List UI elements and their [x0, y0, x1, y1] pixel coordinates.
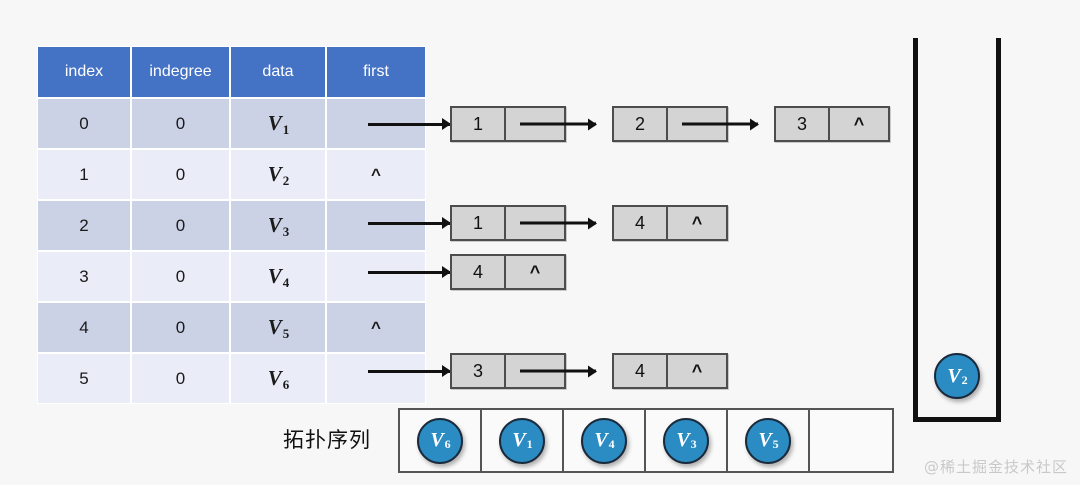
list-node: 4 ^: [612, 205, 728, 241]
vertex-letter: V: [676, 429, 689, 452]
cell-indegree: 0: [131, 353, 230, 404]
cell-indegree: 0: [131, 302, 230, 353]
node-pointer: [506, 355, 564, 387]
cell-index: 3: [37, 251, 131, 302]
vertex-letter: V: [430, 429, 443, 452]
vertex-letter: V: [268, 264, 282, 288]
vertex-letter: V: [268, 315, 282, 339]
vertex-subscript: 6: [445, 437, 451, 452]
adjacency-list-row5: 3 4 ^: [450, 351, 728, 391]
node-value: 2: [614, 108, 668, 140]
vertex-subscript: 3: [691, 437, 697, 452]
vertex-letter: V: [758, 429, 771, 452]
cell-data: V1: [230, 98, 326, 149]
node-value: 1: [452, 207, 506, 239]
node-null-pointer: ^: [668, 207, 726, 239]
vertex-circle: V1: [499, 418, 545, 464]
vertex-letter: V: [268, 366, 282, 390]
cell-data: V4: [230, 251, 326, 302]
vertex-subscript: 6: [283, 377, 290, 392]
list-node: 4 ^: [612, 353, 728, 389]
stack-item: V2: [934, 353, 980, 399]
node-value: 4: [614, 207, 668, 239]
table-row: 4 0 V5 ^: [37, 302, 426, 353]
table-row: 1 0 V2 ^: [37, 149, 426, 200]
vertex-subscript: 2: [283, 173, 290, 188]
vertex-letter: V: [512, 429, 525, 452]
vertex-circle: V4: [581, 418, 627, 464]
cell-data: V5: [230, 302, 326, 353]
node-pointer: [506, 207, 564, 239]
cell-index: 5: [37, 353, 131, 404]
vertex-letter: V: [947, 365, 960, 388]
node-value: 3: [452, 355, 506, 387]
list-node: 3: [450, 353, 566, 389]
node-value: 1: [452, 108, 506, 140]
node-value: 4: [614, 355, 668, 387]
first-pointer-arrow-row3: [368, 252, 450, 292]
vertex-subscript: 4: [283, 275, 290, 290]
null-pointer-mark: ^: [371, 318, 381, 337]
list-node: 2: [612, 106, 728, 142]
node-null-pointer: ^: [668, 355, 726, 387]
node-null-pointer: ^: [830, 108, 888, 140]
table-header-row: index indegree data first: [37, 46, 426, 98]
cell-data: V3: [230, 200, 326, 251]
node-null-pointer: ^: [506, 256, 564, 288]
vertex-subscript: 4: [609, 437, 615, 452]
list-node: 1: [450, 106, 566, 142]
vertex-circle: V2: [934, 353, 980, 399]
adjacency-list-row2: 1 4 ^: [450, 203, 728, 243]
topo-cell: V3: [646, 410, 728, 471]
column-header-indegree: indegree: [131, 46, 230, 98]
cell-index: 1: [37, 149, 131, 200]
topological-sequence-strip: V6 V1 V4 V3 V5: [398, 408, 894, 473]
vertex-circle: V5: [745, 418, 791, 464]
node-pointer: [506, 108, 564, 140]
node-value: 4: [452, 256, 506, 288]
cell-first: ^: [326, 149, 426, 200]
list-node: 3 ^: [774, 106, 890, 142]
column-header-data: data: [230, 46, 326, 98]
vertex-subscript: 3: [283, 224, 290, 239]
cell-index: 2: [37, 200, 131, 251]
topo-cell: V6: [400, 410, 482, 471]
watermark: @稀土掘金技术社区: [924, 456, 1068, 477]
first-pointer-arrow-row0: [368, 104, 450, 144]
first-pointer-arrow-row5: [368, 351, 450, 391]
cell-first: ^: [326, 302, 426, 353]
cell-indegree: 0: [131, 149, 230, 200]
diagram-canvas: index indegree data first 0 0 V1 1 0 V2 …: [0, 0, 1080, 485]
adjacency-list-row3: 4 ^: [450, 252, 566, 292]
adjacency-list-row0: 1 2 3 ^: [450, 104, 890, 144]
list-node: 4 ^: [450, 254, 566, 290]
vertex-letter: V: [268, 111, 282, 135]
cell-indegree: 0: [131, 200, 230, 251]
vertex-subscript: 1: [527, 437, 533, 452]
topo-cell: V1: [482, 410, 564, 471]
node-value: 3: [776, 108, 830, 140]
node-pointer: [668, 108, 726, 140]
topo-cell-empty: [810, 410, 892, 471]
vertex-subscript: 5: [773, 437, 779, 452]
cell-index: 0: [37, 98, 131, 149]
topo-cell: V4: [564, 410, 646, 471]
stack-container: V2: [913, 38, 1001, 422]
cell-data: V6: [230, 353, 326, 404]
column-header-first: first: [326, 46, 426, 98]
vertex-subscript: 5: [283, 326, 290, 341]
vertex-subscript: 2: [962, 373, 968, 388]
cell-indegree: 0: [131, 98, 230, 149]
vertex-letter: V: [268, 213, 282, 237]
null-pointer-mark: ^: [371, 165, 381, 184]
vertex-circle: V6: [417, 418, 463, 464]
vertex-circle: V3: [663, 418, 709, 464]
list-node: 1: [450, 205, 566, 241]
column-header-index: index: [37, 46, 131, 98]
cell-indegree: 0: [131, 251, 230, 302]
vertex-letter: V: [268, 162, 282, 186]
vertex-letter: V: [594, 429, 607, 452]
topological-sequence-label: 拓扑序列: [283, 424, 371, 454]
topo-cell: V5: [728, 410, 810, 471]
first-pointer-arrow-row2: [368, 203, 450, 243]
vertex-subscript: 1: [283, 122, 290, 137]
cell-index: 4: [37, 302, 131, 353]
cell-data: V2: [230, 149, 326, 200]
